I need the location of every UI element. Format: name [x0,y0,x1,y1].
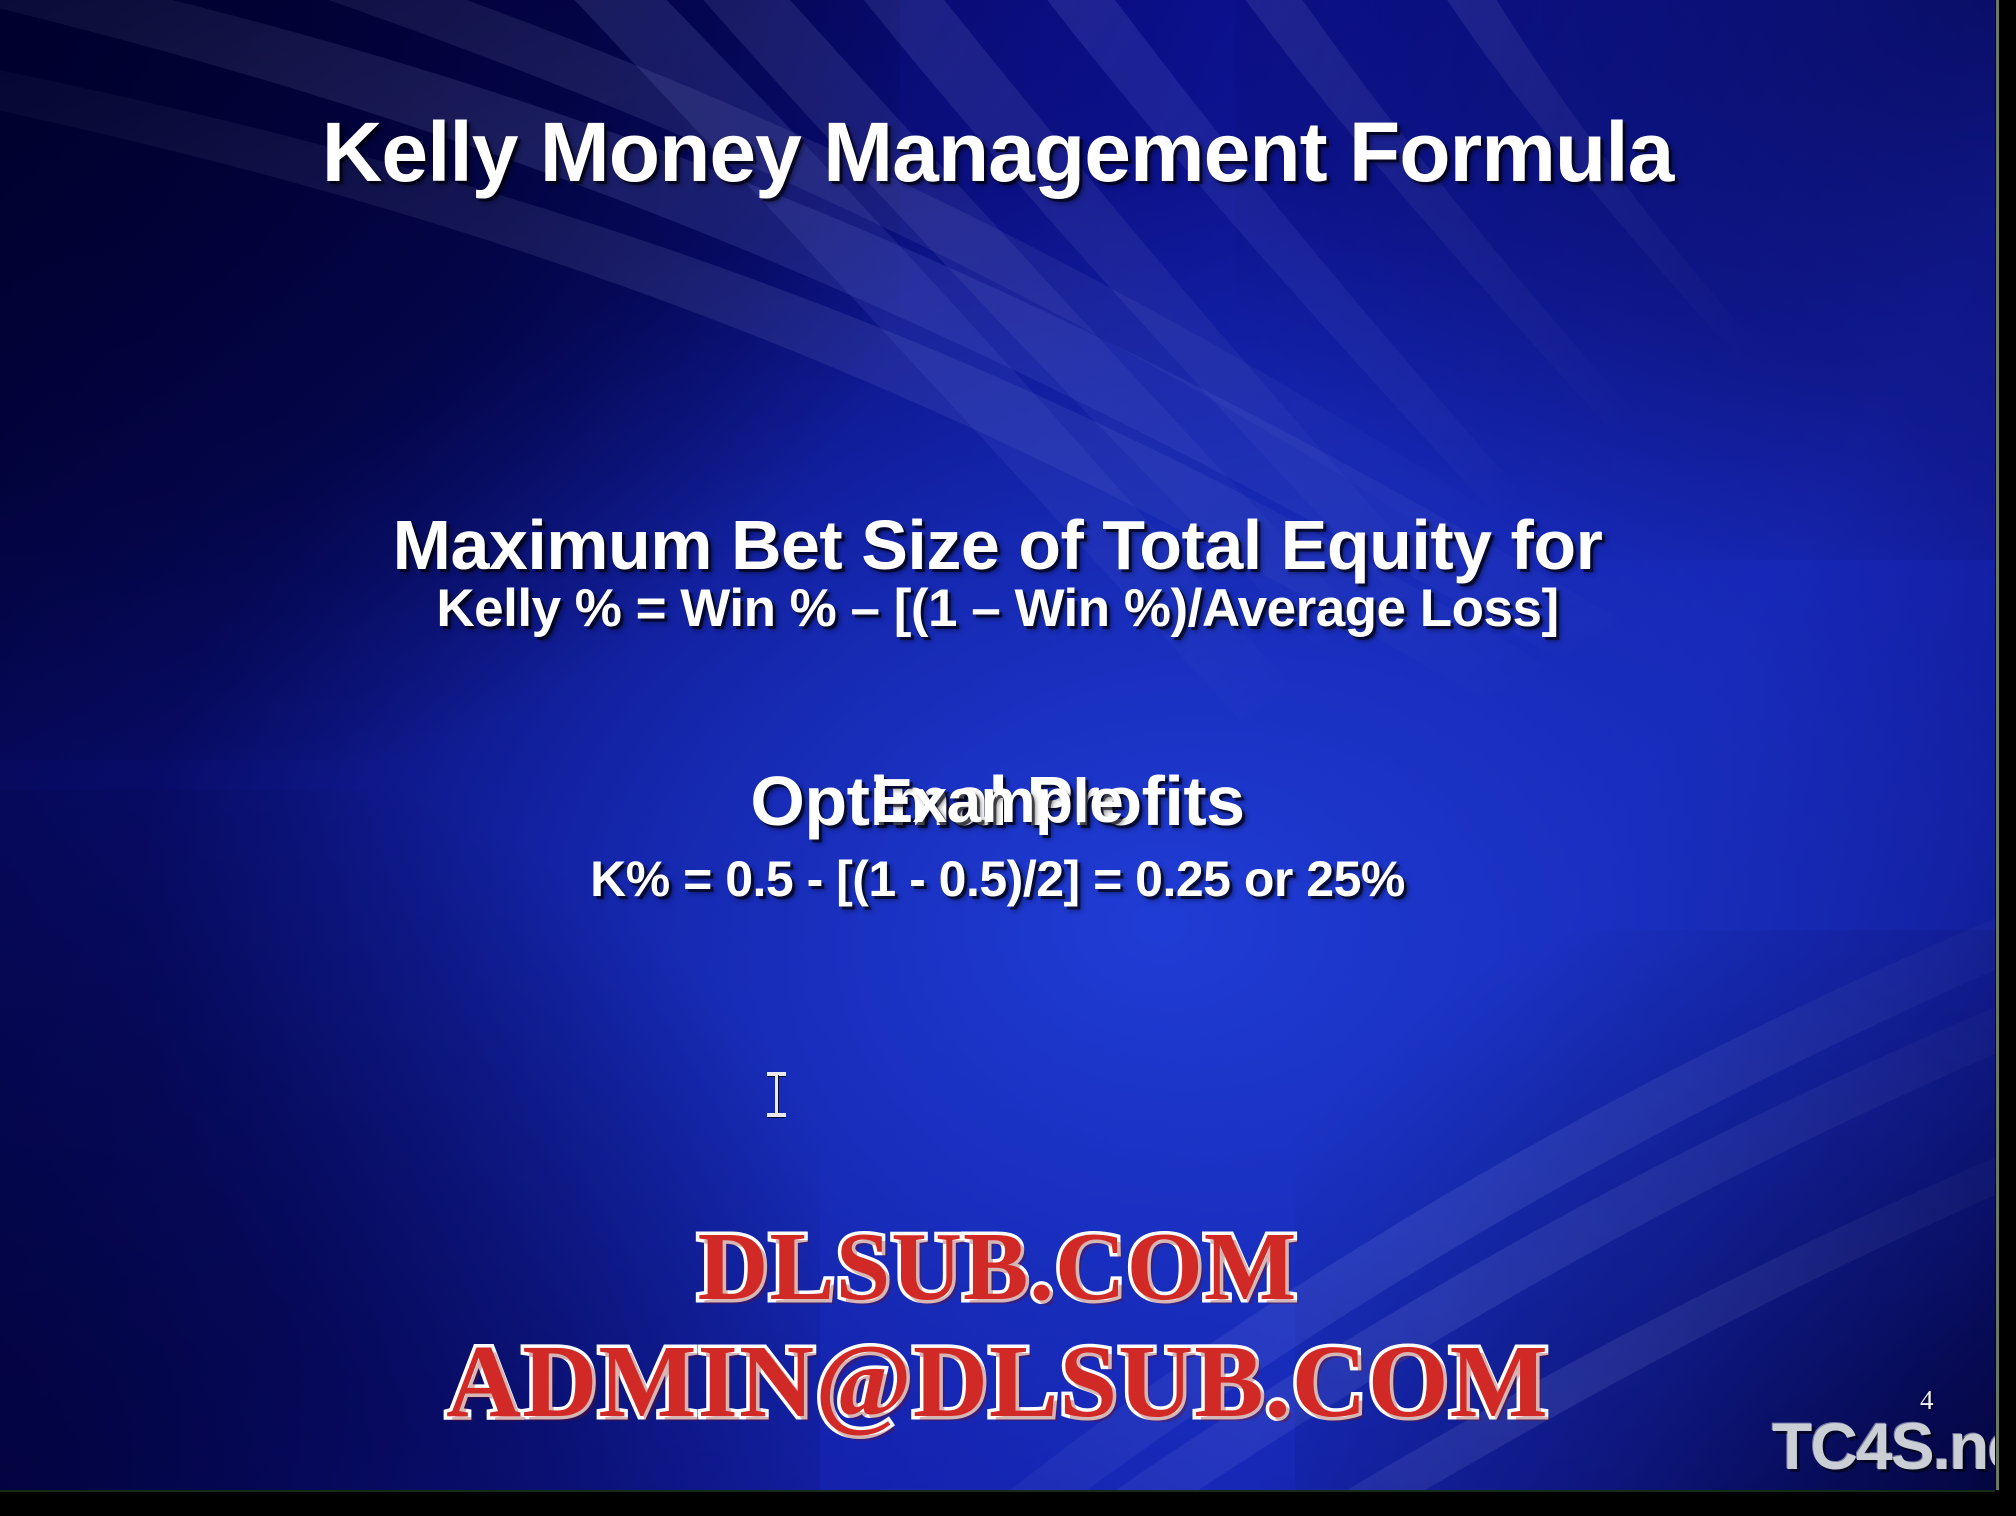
slide-title: Kelly Money Management Formula [0,106,1995,198]
slide-canvas: Kelly Money Management Formula Maximum B… [0,0,1995,1490]
example-heading: Example [0,768,1995,836]
bottom-bezel [0,1490,2016,1516]
ibeam-stem [775,1075,778,1115]
tc4s-net-logo: TC4S.net [1772,1408,1995,1484]
watermark-email: ADMIN@DLSUB.COM [0,1322,1995,1441]
right-bezel-edge-line [1996,0,1999,1490]
watermark-domain: DLSUB.COM [0,1211,1995,1323]
presentation-slide: Kelly Money Management Formula Maximum B… [0,0,2016,1516]
ibeam-cap-bottom [767,1113,786,1117]
ibeam-text-cursor-icon [767,1072,785,1118]
slide-subtitle: Maximum Bet Size of Total Equity for Opt… [120,332,1875,1015]
example-formula-text: K% = 0.5 - [(1 - 0.5)/2] = 0.25 or 25% [0,852,1995,907]
slide-subtitle-line-1: Maximum Bet Size of Total Equity for [120,503,1875,588]
kelly-formula-text: Kelly % = Win % – [(1 – Win %)/Average L… [80,580,1915,638]
bottom-bezel-edge-line [0,1490,1995,1492]
ibeam-cap-top [767,1072,786,1076]
